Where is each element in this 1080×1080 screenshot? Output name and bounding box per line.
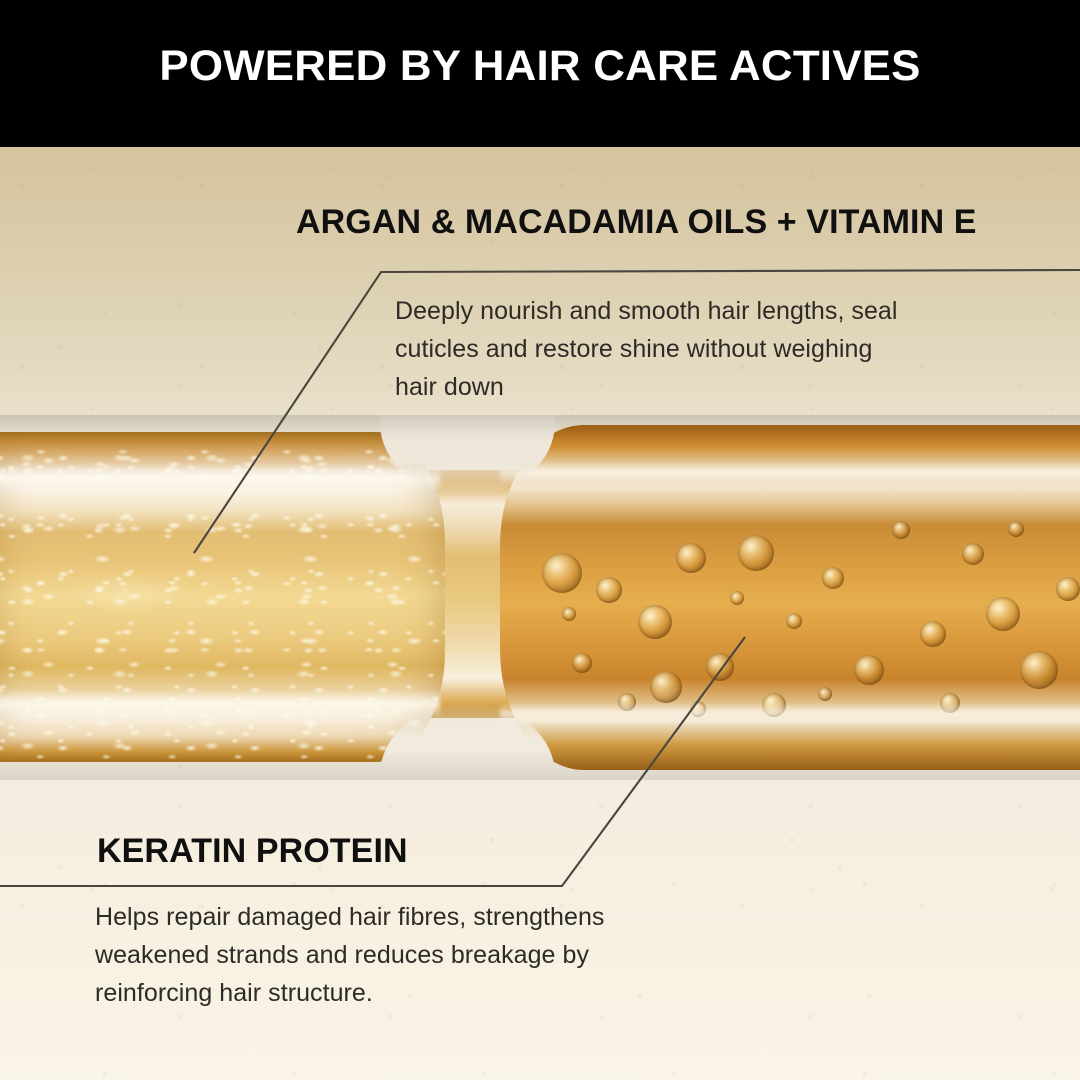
oil-bubble <box>562 607 576 621</box>
callout-body-keratin: Helps repair damaged hair fibres, streng… <box>95 898 675 1012</box>
oil-bubble <box>786 613 802 629</box>
infographic-canvas: POWERED BY HAIR CARE ACTIVES ARGAN & MAC… <box>0 0 1080 1080</box>
callout-body-oils: Deeply nourish and smooth hair lengths, … <box>395 292 915 406</box>
glass-rim-highlight-top <box>500 463 1080 483</box>
ampoule-glass-body <box>0 415 1080 780</box>
oil-bubble <box>650 671 682 703</box>
glass-rim-highlight-left-top <box>0 465 440 491</box>
oil-bubble <box>542 553 582 593</box>
oil-bubble <box>730 591 744 605</box>
oil-bubble <box>854 655 884 685</box>
oil-bubble <box>818 687 832 701</box>
oil-bubble <box>596 577 622 603</box>
glass-rim-highlight-bottom <box>500 703 1080 725</box>
header-band: POWERED BY HAIR CARE ACTIVES <box>0 0 1080 147</box>
oil-bubble <box>822 567 844 589</box>
oil-bubble <box>706 653 734 681</box>
oil-bubble <box>892 521 910 539</box>
glass-rim-highlight-left-bottom <box>0 690 440 718</box>
oil-bubble <box>1056 577 1080 601</box>
oil-bubble <box>572 653 592 673</box>
oil-bubble <box>1020 651 1058 689</box>
oil-bubble <box>920 621 946 647</box>
oil-bubble <box>738 535 774 571</box>
oil-bubble <box>638 605 672 639</box>
callout-heading-oils: ARGAN & MACADAMIA OILS + VITAMIN E <box>296 203 977 242</box>
page-title: POWERED BY HAIR CARE ACTIVES <box>0 44 1080 89</box>
callout-heading-keratin: KERATIN PROTEIN <box>97 832 408 871</box>
oil-bubble <box>962 543 984 565</box>
oil-bubble <box>1008 521 1024 537</box>
ampoule-product-image <box>0 415 1080 780</box>
oil-bubble <box>986 597 1020 631</box>
oil-bubble <box>676 543 706 573</box>
